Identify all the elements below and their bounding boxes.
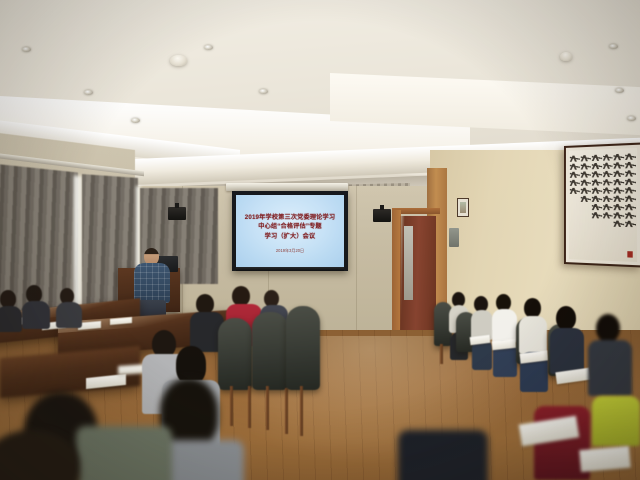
attendee-torso [519,316,547,354]
spotlight-icon [204,45,213,50]
handout-paper [579,446,631,472]
spotlight-icon [615,88,624,93]
slide-line-3: 学习（扩大）会议 [265,232,316,242]
calligraphy-column [581,153,591,257]
calligraphy-column [570,153,580,256]
attendee-torso [76,426,172,480]
chair-leg [266,386,269,430]
spotlight-icon [22,47,31,52]
calligraphy-column [592,153,602,258]
calligraphy-column [603,152,613,258]
spotlight-icon [259,89,268,94]
wall-panel-seam [356,186,357,336]
calligraphy-column [614,152,624,259]
attendee-torso [0,306,22,332]
spotlight-icon [84,90,93,95]
chair-leg [300,386,303,436]
attendee-torso [398,430,488,480]
chair-leg [285,388,288,434]
attendee-torso [588,340,632,396]
attendee-torso-yellow [592,396,640,446]
calligraphy-columns [570,151,636,259]
red-artist-seal [627,251,632,257]
slide-line-2: 中心组“合格评估”专题 [258,222,322,232]
attendee-torso [492,309,517,343]
projected-slide: 2019年学校第三次党委理论学习 中心组“合格评估”专题 学习（扩大）会议 20… [236,195,344,267]
door-glass-panel [404,226,413,300]
attendee-head [556,306,576,330]
upholstered-meeting-chair[interactable] [218,318,252,390]
smoke-detector-icon [560,52,572,61]
wall-control-box[interactable] [449,228,459,247]
upholstered-meeting-chair[interactable] [252,312,288,390]
spotlight-icon [131,118,140,123]
presenter-torso [134,263,170,303]
upholstered-meeting-chair[interactable] [286,306,320,390]
attendee-head [524,298,541,318]
projection-screen-housing [226,183,348,191]
slide-date: 2019年3月20日 [276,248,304,254]
attendee-head [596,314,620,342]
spotlight-icon [627,116,636,121]
smoke-detector-icon [170,55,187,66]
projection-screen-bottom-bar [236,267,344,271]
spotlight-icon [609,44,618,49]
chinese-calligraphy-scroll [564,142,640,267]
attendee-torso [56,302,82,328]
attendee-torso [22,301,50,329]
wall-speaker-icon [168,207,186,220]
conference-room-photo: 2019年学校第三次党委理论学习 中心组“合格评估”专题 学习（扩大）会议 20… [0,0,640,480]
attendee-torso [550,328,584,374]
small-framed-picture [457,198,469,217]
projection-screen: 2019年学校第三次党委理论学习 中心组“合格评估”专题 学习（扩大）会议 20… [232,191,348,271]
wall-speaker-icon [373,209,391,222]
attendee-head [232,286,250,306]
slide-line-1: 2019年学校第三次党委理论学习 [245,213,335,223]
calligraphy-column [625,151,636,259]
chair-leg [230,386,233,426]
chair-leg [248,386,251,428]
attendee-head [196,294,214,314]
meeting-room-door[interactable] [400,216,436,336]
chair-leg [440,344,443,364]
